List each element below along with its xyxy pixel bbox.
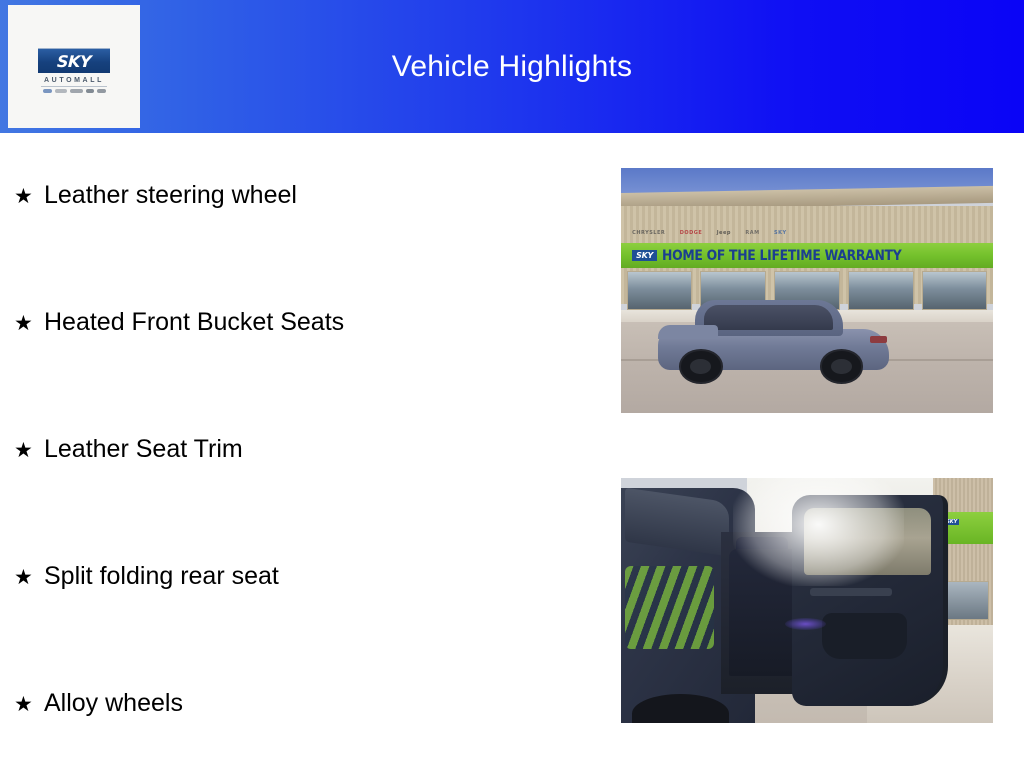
banner-reflection	[625, 566, 714, 649]
list-item-label: Split folding rear seat	[44, 564, 279, 589]
star-icon: ★	[14, 313, 44, 334]
logo-brand-marks	[43, 89, 106, 93]
banner-text: HOME OF THE LIFETIME WARRANTY	[662, 248, 901, 264]
dodge-mark-icon	[70, 89, 83, 93]
sun-flare	[733, 478, 904, 586]
star-icon: ★	[14, 440, 44, 461]
list-item-label: Heated Front Bucket Seats	[44, 310, 344, 335]
brand-signs: CHRYSLER DODGE Jeep RAM SKY	[621, 224, 993, 241]
sign-jeep: Jeep	[717, 230, 731, 236]
vehicle-highlights-slide: Vehicle Highlights SKY AUTOMALL ★ Leathe…	[0, 0, 1024, 768]
star-icon: ★	[14, 186, 44, 207]
star-icon: ★	[14, 694, 44, 715]
lens-flare-icon	[785, 618, 826, 630]
list-item: ★ Leather Seat Trim	[14, 437, 243, 462]
logo-subtitle: AUTOMALL	[44, 76, 104, 85]
logo-inner: SKY AUTOMALL	[38, 48, 110, 93]
sign-ram: RAM	[745, 230, 759, 236]
list-item: ★ Leather steering wheel	[14, 183, 297, 208]
suv-front-wheel	[679, 349, 723, 383]
list-item: ★ Heated Front Bucket Seats	[14, 310, 344, 335]
suv-rear-wheel	[820, 349, 864, 383]
chrysler-mark-icon	[55, 89, 67, 93]
window-pane	[922, 271, 988, 310]
sign-chrysler: CHRYSLER	[632, 230, 665, 236]
sign-sky: SKY	[774, 230, 787, 236]
list-item-label: Leather steering wheel	[44, 183, 297, 208]
star-icon: ★	[14, 567, 44, 588]
ford-mark-icon	[43, 89, 52, 93]
vehicle-exterior-photo: CHRYSLER DODGE Jeep RAM SKY SKY HOME OF …	[621, 168, 993, 413]
list-item-label: Alloy wheels	[44, 691, 183, 716]
page-title: Vehicle Highlights	[0, 0, 1024, 133]
banner-sky-logo: SKY	[632, 250, 657, 261]
logo-brand-name: SKY	[56, 52, 91, 71]
suv-windows	[704, 305, 833, 331]
door-armrest	[810, 588, 892, 596]
list-item-label: Leather Seat Trim	[44, 437, 243, 462]
suv-side-view	[658, 298, 889, 384]
list-item: ★ Split folding rear seat	[14, 564, 279, 589]
highlights-list: ★ Leather steering wheel ★ Heated Front …	[0, 133, 600, 768]
jeep-mark-icon	[86, 89, 94, 93]
suv-hood	[658, 325, 718, 339]
suv-taillight	[870, 336, 886, 344]
dealer-logo[interactable]: SKY AUTOMALL	[8, 5, 140, 128]
warranty-banner: SKY HOME OF THE LIFETIME WARRANTY	[621, 243, 993, 269]
slide-header: Vehicle Highlights	[0, 0, 1024, 133]
vehicle-interior-photo: SKY	[621, 478, 993, 723]
door-pocket	[822, 613, 907, 659]
logo-divider	[41, 86, 107, 87]
sign-dodge: DODGE	[680, 230, 703, 236]
ram-mark-icon	[97, 89, 106, 93]
list-item: ★ Alloy wheels	[14, 691, 183, 716]
sky-badge-icon: SKY	[38, 48, 110, 73]
